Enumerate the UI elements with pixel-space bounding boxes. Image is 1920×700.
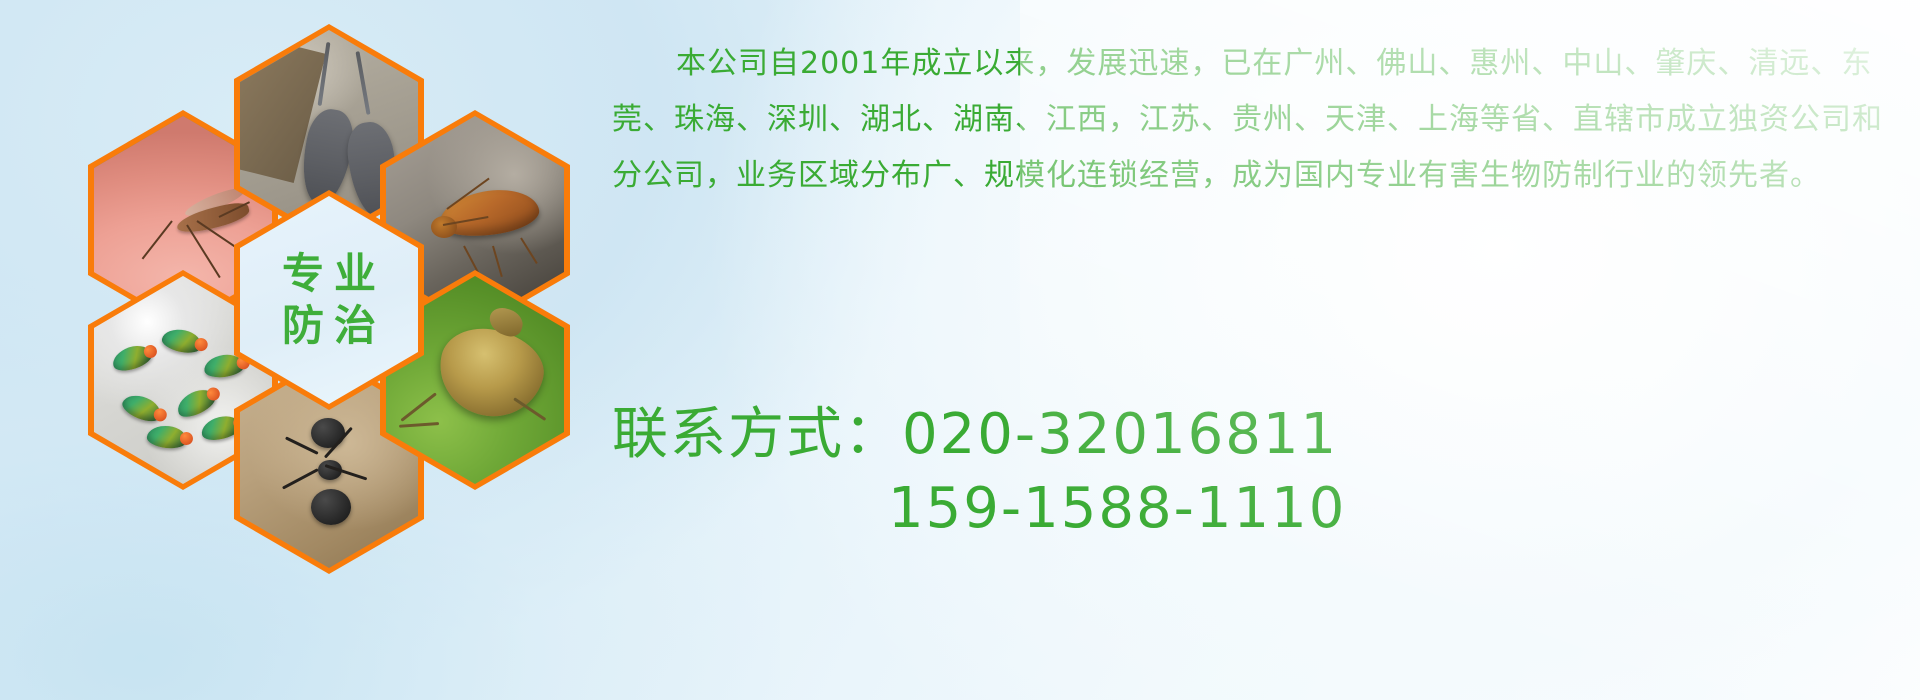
fly-shape bbox=[160, 326, 204, 356]
stink-bug-leg-shape bbox=[399, 422, 439, 428]
mosquito-leg-shape bbox=[142, 220, 173, 259]
fly-shape bbox=[120, 390, 165, 425]
cockroach-leg-shape bbox=[492, 246, 503, 277]
cockroach-leg-shape bbox=[520, 237, 538, 264]
fly-shape bbox=[109, 341, 154, 374]
rat-tail-shape bbox=[356, 51, 371, 115]
fly-eye-shape bbox=[204, 386, 221, 403]
fly-eye-shape bbox=[193, 337, 208, 352]
ant-abdomen-shape bbox=[311, 489, 351, 525]
promo-banner: 专业 防治 本公司自2001年成立以来，发展迅速，已在广州、佛山、惠州、中山、肇… bbox=[0, 0, 1920, 700]
ant-leg-shape bbox=[282, 468, 319, 489]
slogan-line-1: 专业 bbox=[272, 253, 386, 295]
fly-shape bbox=[173, 385, 219, 422]
company-intro-paragraph: 本公司自2001年成立以来，发展迅速，已在广州、佛山、惠州、中山、肇庆、清远、东… bbox=[612, 36, 1912, 204]
contact-block: 联系方式：020-32016811 159-1588-1110 bbox=[612, 398, 1912, 546]
fly-shape bbox=[146, 424, 188, 450]
company-intro-block: 本公司自2001年成立以来，发展迅速，已在广州、佛山、惠州、中山、肇庆、清远、东… bbox=[612, 36, 1912, 204]
cockroach-head-shape bbox=[431, 216, 457, 238]
contact-phone-line[interactable]: 联系方式：020-32016811 bbox=[612, 398, 1912, 472]
honeycomb-image-cluster: 专业 防治 bbox=[86, 0, 606, 562]
stink-bug-leg-shape bbox=[400, 393, 437, 422]
fly-eye-shape bbox=[142, 343, 158, 359]
hex-inner: 专业 防治 bbox=[240, 196, 418, 404]
slogan-line-2: 防治 bbox=[272, 305, 386, 347]
contact-mobile-line[interactable]: 159-1588-1110 bbox=[612, 472, 1912, 546]
fly-eye-shape bbox=[152, 406, 169, 423]
fly-eye-shape bbox=[180, 431, 194, 445]
slogan-text: 专业 防治 bbox=[240, 196, 418, 404]
ant-head-shape bbox=[311, 418, 345, 448]
